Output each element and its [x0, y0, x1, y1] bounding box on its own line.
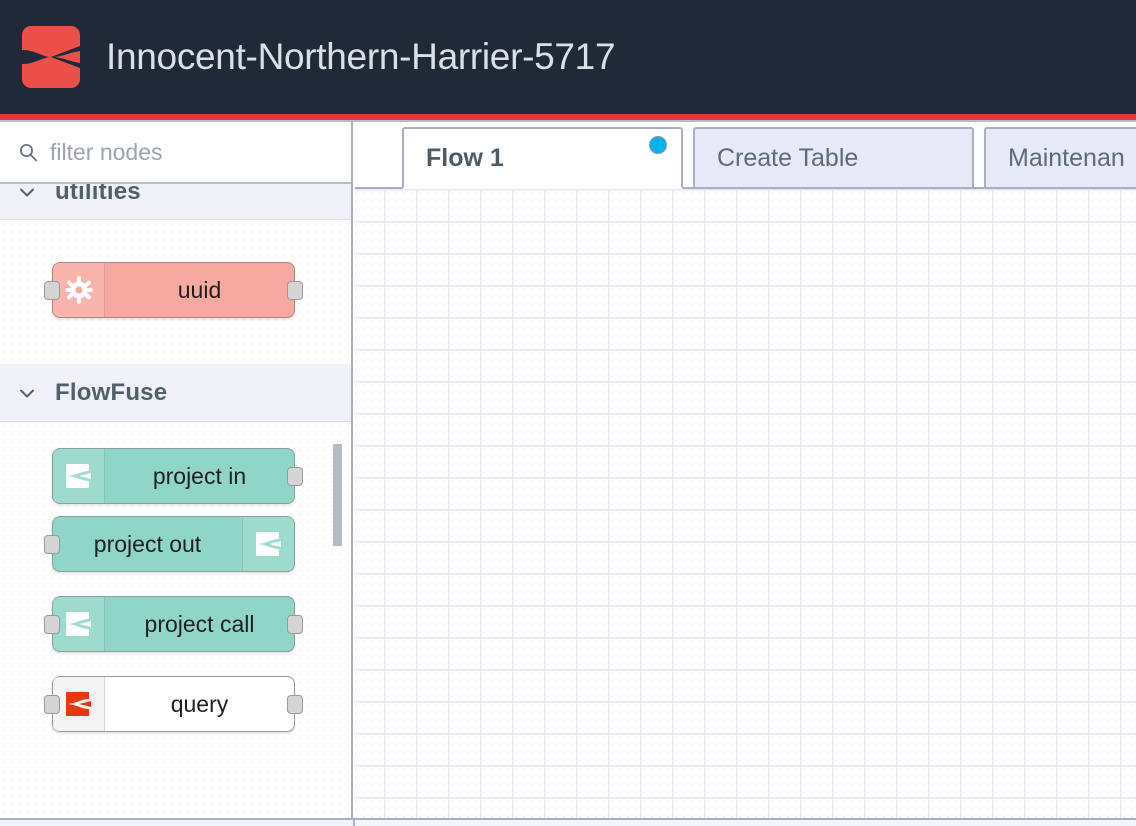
palette-category-utilities[interactable]: utilities [0, 184, 351, 220]
palette-node-query[interactable]: query [52, 676, 295, 732]
palette-node-project-in[interactable]: project in [52, 448, 295, 504]
tab-label: Flow 1 [426, 144, 504, 173]
node-output-port[interactable] [287, 695, 303, 714]
palette-category-flowfuse[interactable]: FlowFuse [0, 364, 351, 422]
node-input-port[interactable] [44, 695, 60, 714]
tab-maintenance[interactable]: Maintenan [984, 127, 1136, 189]
palette-node-row: uuid [0, 234, 351, 314]
node-input-port[interactable] [44, 281, 60, 300]
palette-node-label: query [105, 691, 294, 718]
tab-unsaved-dot [649, 136, 667, 154]
palette-category-label: FlowFuse [55, 379, 167, 407]
node-output-port[interactable] [287, 281, 303, 300]
palette-node-project-call[interactable]: project call [52, 596, 295, 652]
tab-flow-1[interactable]: Flow 1 [402, 127, 683, 189]
palette-scrollbar[interactable] [333, 444, 342, 546]
search-input[interactable] [50, 139, 330, 166]
tab-create-table[interactable]: Create Table [693, 127, 974, 189]
palette-node-label: project call [105, 611, 294, 638]
tab-label: Maintenan [1008, 144, 1125, 173]
flowfuse-node-icon [53, 597, 105, 651]
palette-node-uuid[interactable]: uuid [52, 262, 295, 318]
node-output-port[interactable] [287, 467, 303, 486]
palette-category-body-utilities: uuid [0, 220, 351, 364]
flowfuse-node-icon [242, 517, 294, 571]
node-input-port[interactable] [44, 615, 60, 634]
chevron-down-icon [16, 184, 38, 203]
flowfuse-editor-window: Innocent-Northern-Harrier-5717 [0, 0, 1136, 826]
palette-category-body-flowfuse: project in project out [0, 422, 351, 768]
workspace: utilities [0, 122, 1136, 826]
palette-node-label: uuid [105, 277, 294, 304]
gear-icon [53, 263, 105, 317]
page-title: Innocent-Northern-Harrier-5717 [106, 36, 615, 78]
node-palette: utilities [0, 122, 353, 826]
palette-category-label: utilities [55, 184, 141, 206]
palette-node-label: project out [53, 531, 242, 558]
status-bar [0, 818, 1136, 826]
palette-node-label: project in [105, 463, 294, 490]
flowfuse-red-icon [53, 677, 105, 731]
palette-node-row: project out [0, 516, 351, 596]
search-icon [18, 142, 38, 162]
chevron-down-icon [16, 382, 38, 404]
palette-node-row: project in [0, 436, 351, 516]
palette-node-row: project call [0, 596, 351, 676]
palette-node-project-out[interactable]: project out [52, 516, 295, 572]
palette-search-bar[interactable] [0, 122, 351, 184]
app-header: Innocent-Northern-Harrier-5717 [0, 0, 1136, 114]
flow-editor: Flow 1 Create Table Maintenan [355, 122, 1136, 826]
tab-label: Create Table [717, 144, 858, 173]
palette-scroll-area: utilities [0, 184, 351, 826]
palette-node-row: query [0, 676, 351, 756]
flowfuse-node-icon [53, 449, 105, 503]
flow-tab-bar: Flow 1 Create Table Maintenan [355, 122, 1136, 189]
status-bar-divider [353, 818, 355, 826]
flow-canvas[interactable] [355, 189, 1136, 819]
node-input-port[interactable] [44, 535, 60, 554]
flowfuse-logo-icon[interactable] [22, 26, 80, 88]
node-output-port[interactable] [287, 615, 303, 634]
